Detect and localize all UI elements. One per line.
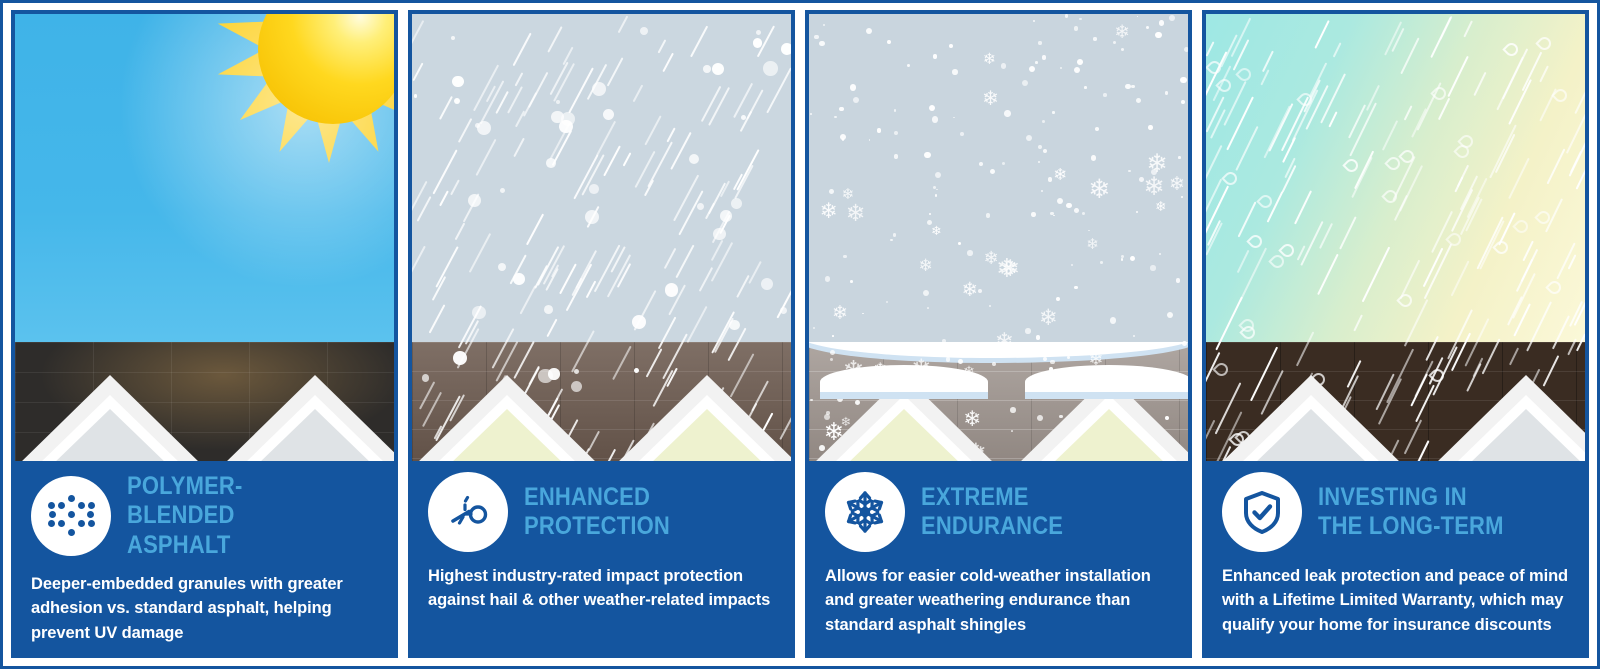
hail-impact-glyph [445,489,491,535]
louver-slats [1051,409,1167,461]
granule-dot [58,502,65,509]
benefits-infographic: POLYMER-BLENDED ASPHALT Deeper-embedded … [0,0,1600,669]
card-enhanced-protection: ENHANCED PROTECTION Highest industry-rat… [412,461,791,654]
card-polymer-blended-asphalt: POLYMER-BLENDED ASPHALT Deeper-embedded … [15,461,394,654]
roof-grey-shingle [809,342,1188,461]
snowflake-icon [825,472,905,552]
louver-slats [649,409,765,461]
dormer-snow-cap [820,365,988,399]
louver-slats [1468,409,1584,461]
granule-dot [68,511,75,518]
shield-check-glyph [1239,489,1285,535]
louver-slats [257,409,373,461]
panel-description: Deeper-embedded granules with greater ad… [31,572,378,645]
roof-dark-brown-shingle [1206,342,1585,461]
scene-snow: ❄❄❄❄❄❄❄❄❄❄❄❄❄❄❄❄❄❄❄❄❄❄❄❄❄❄❄❄❄❄❄❄❄❄ [809,14,1188,461]
panel-title: EXTREME ENDURANCE [921,483,1063,542]
card-header: ENHANCED PROTECTION [428,461,775,552]
panel-title: INVESTING IN THE LONG-TERM [1318,483,1504,542]
scene-rain-sun [1206,14,1585,461]
panel-investing-in-the-long-term[interactable]: INVESTING IN THE LONG-TERM Enhanced leak… [1202,10,1589,658]
dormer-snow-cap [1025,365,1188,399]
granule-dot [88,520,95,527]
sky-gradient [1206,14,1585,342]
card-header: EXTREME ENDURANCE [825,461,1172,552]
panel-extreme-endurance[interactable]: ❄❄❄❄❄❄❄❄❄❄❄❄❄❄❄❄❄❄❄❄❄❄❄❄❄❄❄❄❄❄❄❄❄❄ [805,10,1192,658]
card-extreme-endurance: EXTREME ENDURANCE Allows for easier cold… [809,461,1188,654]
scene-sunny [15,14,394,461]
panel-description: Enhanced leak protection and peace of mi… [1222,564,1569,637]
granules-icon [31,476,111,556]
granule-dot [78,520,85,527]
granule-dot [87,511,94,518]
shield-check-icon [1222,472,1302,552]
hail-impact-icon [428,472,508,552]
snowflake-glyph [842,489,888,535]
sky-overcast [412,14,791,342]
granule-dot [68,495,75,502]
card-header: INVESTING IN THE LONG-TERM [1222,461,1569,552]
louver-slats [449,409,565,461]
granule-dot [78,502,85,509]
granule-dot [88,502,95,509]
panel-description: Allows for easier cold-weather installat… [825,564,1172,637]
panel-title: ENHANCED PROTECTION [524,483,670,542]
panel-enhanced-protection[interactable]: ENHANCED PROTECTION Highest industry-rat… [408,10,795,658]
louver-slats [1253,409,1369,461]
granule-dot [48,502,55,509]
louver-slats [52,409,168,461]
card-header: POLYMER-BLENDED ASPHALT [31,461,378,560]
card-investing-in-the-long-term: INVESTING IN THE LONG-TERM Enhanced leak… [1206,461,1585,654]
roof-brown-shingle [412,342,791,461]
panel-polymer-blended-asphalt[interactable]: POLYMER-BLENDED ASPHALT Deeper-embedded … [11,10,398,658]
panel-title: POLYMER-BLENDED ASPHALT [127,472,348,560]
sky-sunny [15,14,394,342]
sky-overcast [809,14,1188,342]
louver-slats [846,409,962,461]
granule-dot [58,520,65,527]
roof-dark-asphalt [15,342,394,461]
granule-dot [49,511,56,518]
granule-dot [68,529,75,536]
granule-dot [48,520,55,527]
panel-description: Highest industry-rated impact protection… [428,564,775,613]
scene-hail [412,14,791,461]
